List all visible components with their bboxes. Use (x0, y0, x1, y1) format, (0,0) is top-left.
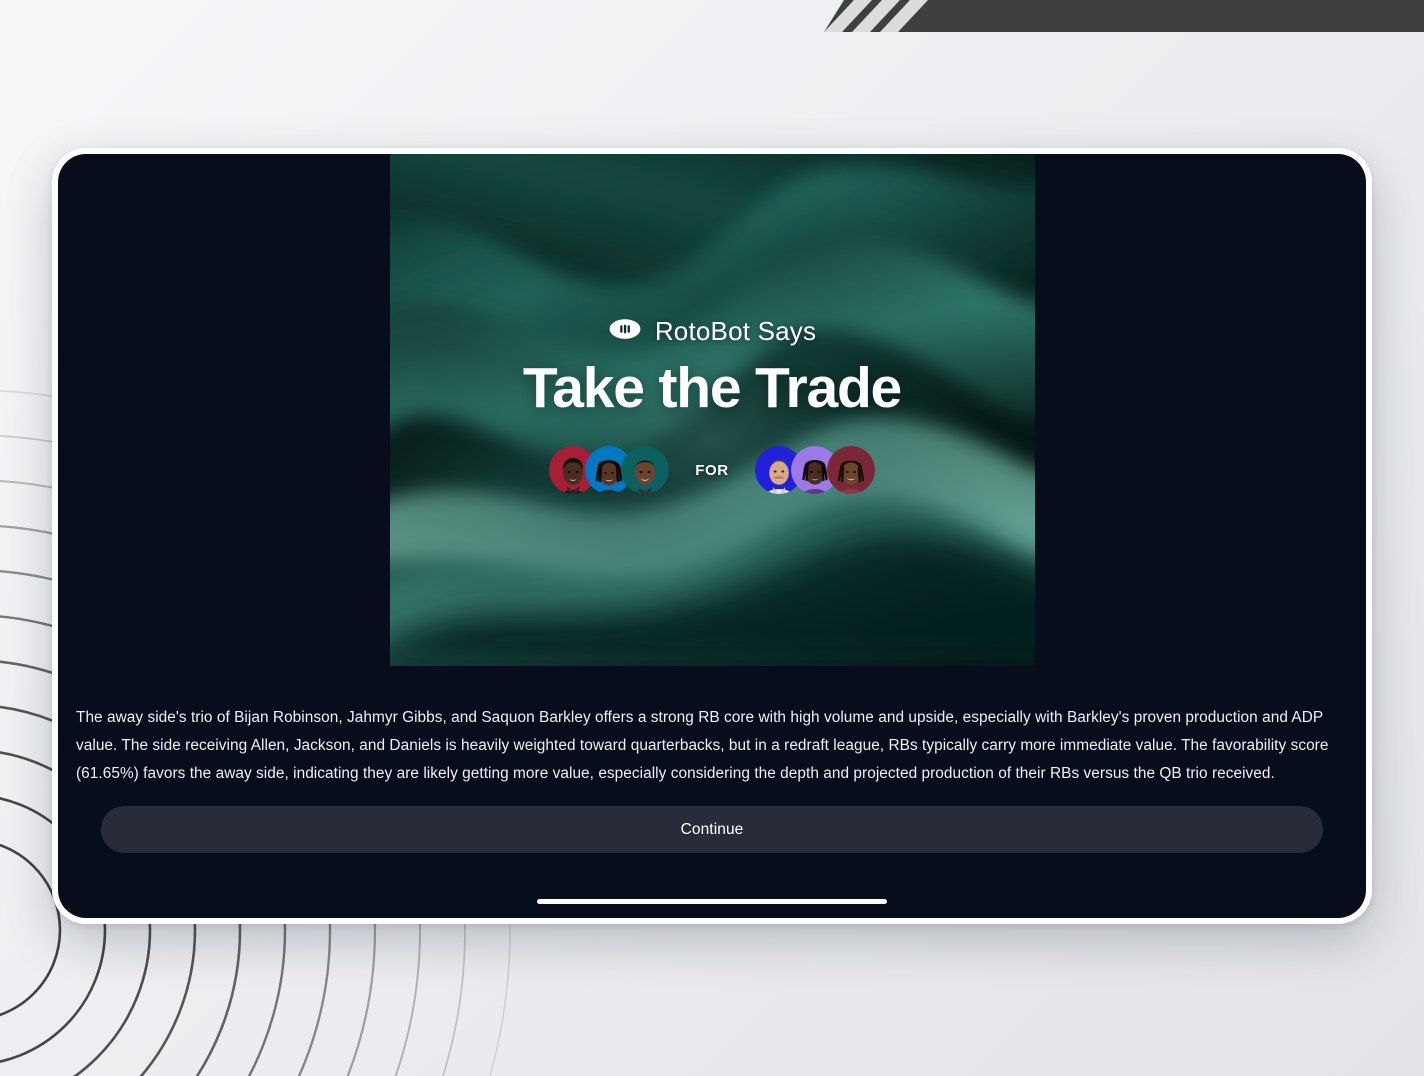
hero-headline: Take the Trade (523, 359, 901, 419)
avatars-row: FOR (549, 446, 874, 494)
avatar-jayden-daniels[interactable] (827, 446, 875, 494)
avatar-saquon-barkley[interactable] (621, 446, 669, 494)
page-root: RotoBot Says Take the Trade (0, 0, 1424, 1076)
device-frame: RotoBot Says Take the Trade (52, 148, 1372, 924)
for-label: FOR (695, 462, 728, 479)
home-indicator[interactable] (537, 899, 887, 904)
hero-banner: RotoBot Says Take the Trade (390, 154, 1035, 666)
football-eye-icon (608, 318, 642, 345)
brand-label: RotoBot Says (655, 316, 816, 347)
continue-button[interactable]: Continue (101, 806, 1323, 853)
analysis-text: The away side's trio of Bijan Robinson, … (58, 666, 1366, 788)
hero-content: RotoBot Says Take the Trade (390, 154, 1035, 666)
away-avatar-group (549, 446, 669, 494)
device-screen: RotoBot Says Take the Trade (58, 154, 1366, 918)
brand-row: RotoBot Says (608, 316, 816, 347)
home-indicator-area (58, 884, 1366, 918)
diagonal-stripe-band (824, 0, 1424, 40)
home-avatar-group (755, 446, 875, 494)
